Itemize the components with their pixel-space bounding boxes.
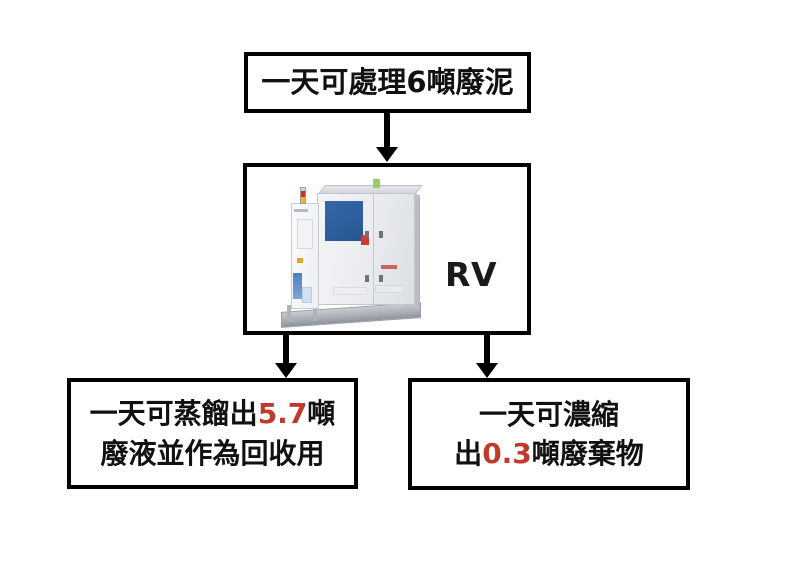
input-box-text: 一天可處理6噸廢泥 xyxy=(261,66,513,98)
output-right-box: 一天可濃縮 出0.3噸廢棄物 xyxy=(408,378,690,490)
output-right-line2: 出0.3噸廢棄物 xyxy=(454,438,644,469)
machine-door-handle xyxy=(365,275,369,282)
output-left-line1-suffix: 噸 xyxy=(307,397,335,430)
machine-stack-light-icon xyxy=(300,187,306,204)
output-right-line2-prefix: 出 xyxy=(454,437,482,470)
machine-left-column-panel xyxy=(297,219,313,249)
output-left-line1: 一天可蒸餾出5.7噸 xyxy=(90,398,336,429)
diagram-canvas: 一天可處理6噸廢泥 xyxy=(0,0,788,562)
arrow-head xyxy=(476,363,498,378)
machine-blue-tank xyxy=(302,287,312,303)
output-left-box: 一天可蒸餾出5.7噸 廢液並作為回收用 xyxy=(67,378,358,489)
machine-box: RV xyxy=(243,163,531,335)
arrow-shaft xyxy=(484,335,490,365)
arrow-shaft xyxy=(384,113,390,149)
output-right-value: 0.3 xyxy=(482,437,532,470)
machine-door-seam xyxy=(373,194,374,304)
machine-door-handle xyxy=(379,231,383,238)
output-left-line1-prefix: 一天可蒸餾出 xyxy=(90,397,258,430)
arrow-head xyxy=(275,363,297,378)
output-right-line1: 一天可濃縮 xyxy=(479,399,619,430)
machine-amber-indicator xyxy=(297,258,303,263)
arrow-down-icon-output-left xyxy=(275,335,297,379)
arrow-down-icon-input xyxy=(376,113,398,163)
machine-lower-vent xyxy=(333,287,367,295)
machine-label-rv: RV xyxy=(445,255,497,294)
arrow-head xyxy=(376,147,398,162)
machine-left-label xyxy=(294,209,308,212)
machine-door-handle xyxy=(379,275,383,282)
output-right-line2-suffix: 噸廢棄物 xyxy=(532,437,644,470)
arrow-down-icon-output-right xyxy=(476,335,498,379)
input-box: 一天可處理6噸廢泥 xyxy=(244,52,531,113)
rv-evaporator-machine-image xyxy=(277,175,425,325)
output-left-value: 5.7 xyxy=(258,397,308,430)
machine-door-handle xyxy=(365,231,369,238)
machine-blue-inlet xyxy=(293,273,302,299)
machine-blue-panel xyxy=(325,201,363,241)
machine-green-fitting xyxy=(373,179,380,188)
machine-brand-mark xyxy=(381,265,397,269)
machine-lower-vent xyxy=(375,285,405,293)
output-left-line2: 廢液並作為回收用 xyxy=(100,438,324,469)
arrow-shaft xyxy=(283,335,289,365)
